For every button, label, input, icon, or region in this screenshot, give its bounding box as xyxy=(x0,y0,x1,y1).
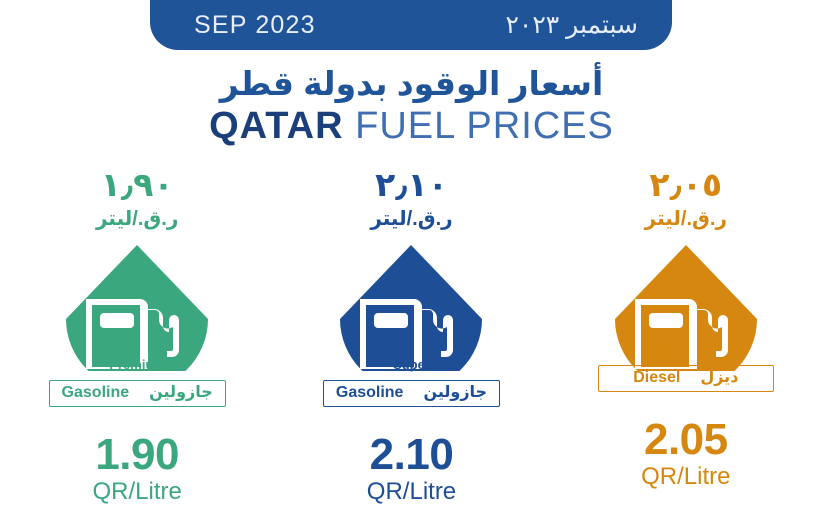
fuel-type-badge: Gasoline جازولين xyxy=(49,380,226,407)
month-label-ar: سبتمبر ٢٠٢٣ xyxy=(506,13,639,38)
fuel-type-ar: جازولين xyxy=(149,384,213,402)
page-title-arabic: أسعار الوقود بدولة قطر xyxy=(0,66,823,102)
unit-arabic: ر.ق./ليتر xyxy=(96,209,178,231)
month-banner: SEP 2023 سبتمبر ٢٠٢٣ xyxy=(150,0,672,50)
fuel-type-en: Gasoline xyxy=(336,384,404,402)
month-label-en: SEP 2023 xyxy=(194,13,316,38)
grade-label-en: Premium xyxy=(109,357,165,372)
price-unit: QR/Litre xyxy=(641,464,730,490)
grade-label-en: Super xyxy=(393,357,430,372)
fuel-type-badge: Gasoline جازولين xyxy=(323,380,500,407)
price-value: 1.90 xyxy=(95,433,179,477)
grade-number: D xyxy=(658,339,675,366)
page-title-subject: FUEL PRICES xyxy=(344,105,614,147)
price-arabic: ١٫٩٠ xyxy=(101,168,174,202)
fuel-column-super-95: ٢٫١٠ ر.ق./ليتر سوبر 95 Super Gasoline جا… xyxy=(286,168,536,505)
fuel-type-ar: جازولين xyxy=(423,384,487,402)
fuel-prices-infographic: SEP 2023 سبتمبر ٢٠٢٣ أسعار الوقود بدولة … xyxy=(0,0,823,494)
fuel-type-ar: ديزل xyxy=(700,369,738,387)
fuel-type-en: Diesel xyxy=(633,369,680,387)
fuel-pump-drop-icon: ممتاز 91 xyxy=(62,243,212,371)
price-arabic: ٢٫٠٥ xyxy=(649,168,722,202)
page-title-brand: QATAR xyxy=(209,105,343,147)
price-value: 2.05 xyxy=(644,418,728,462)
fuel-type-badge: Diesel ديزل xyxy=(598,365,774,392)
fuel-columns: ١٫٩٠ ر.ق./ليتر ممتاز 91 Premium Gasoline… xyxy=(0,168,823,494)
price-unit: QR/Litre xyxy=(367,479,456,505)
fuel-column-diesel: ٢٫٠٥ ر.ق./ليتر D Diesel ديزل 2.05 QR/Lit… xyxy=(561,168,811,490)
fuel-pump-drop-icon: سوبر 95 xyxy=(336,243,486,371)
unit-arabic: ر.ق./ليتر xyxy=(645,209,727,231)
fuel-column-premium-91: ١٫٩٠ ر.ق./ليتر ممتاز 91 Premium Gasoline… xyxy=(12,168,262,505)
price-unit: QR/Litre xyxy=(92,479,181,505)
fuel-type-en: Gasoline xyxy=(62,384,130,402)
price-value: 2.10 xyxy=(370,433,454,477)
page-title-english: QATAR FUEL PRICES xyxy=(0,106,823,148)
unit-arabic: ر.ق./ليتر xyxy=(370,209,452,231)
price-arabic: ٢٫١٠ xyxy=(375,168,448,202)
fuel-pump-drop-icon: D xyxy=(611,243,761,371)
